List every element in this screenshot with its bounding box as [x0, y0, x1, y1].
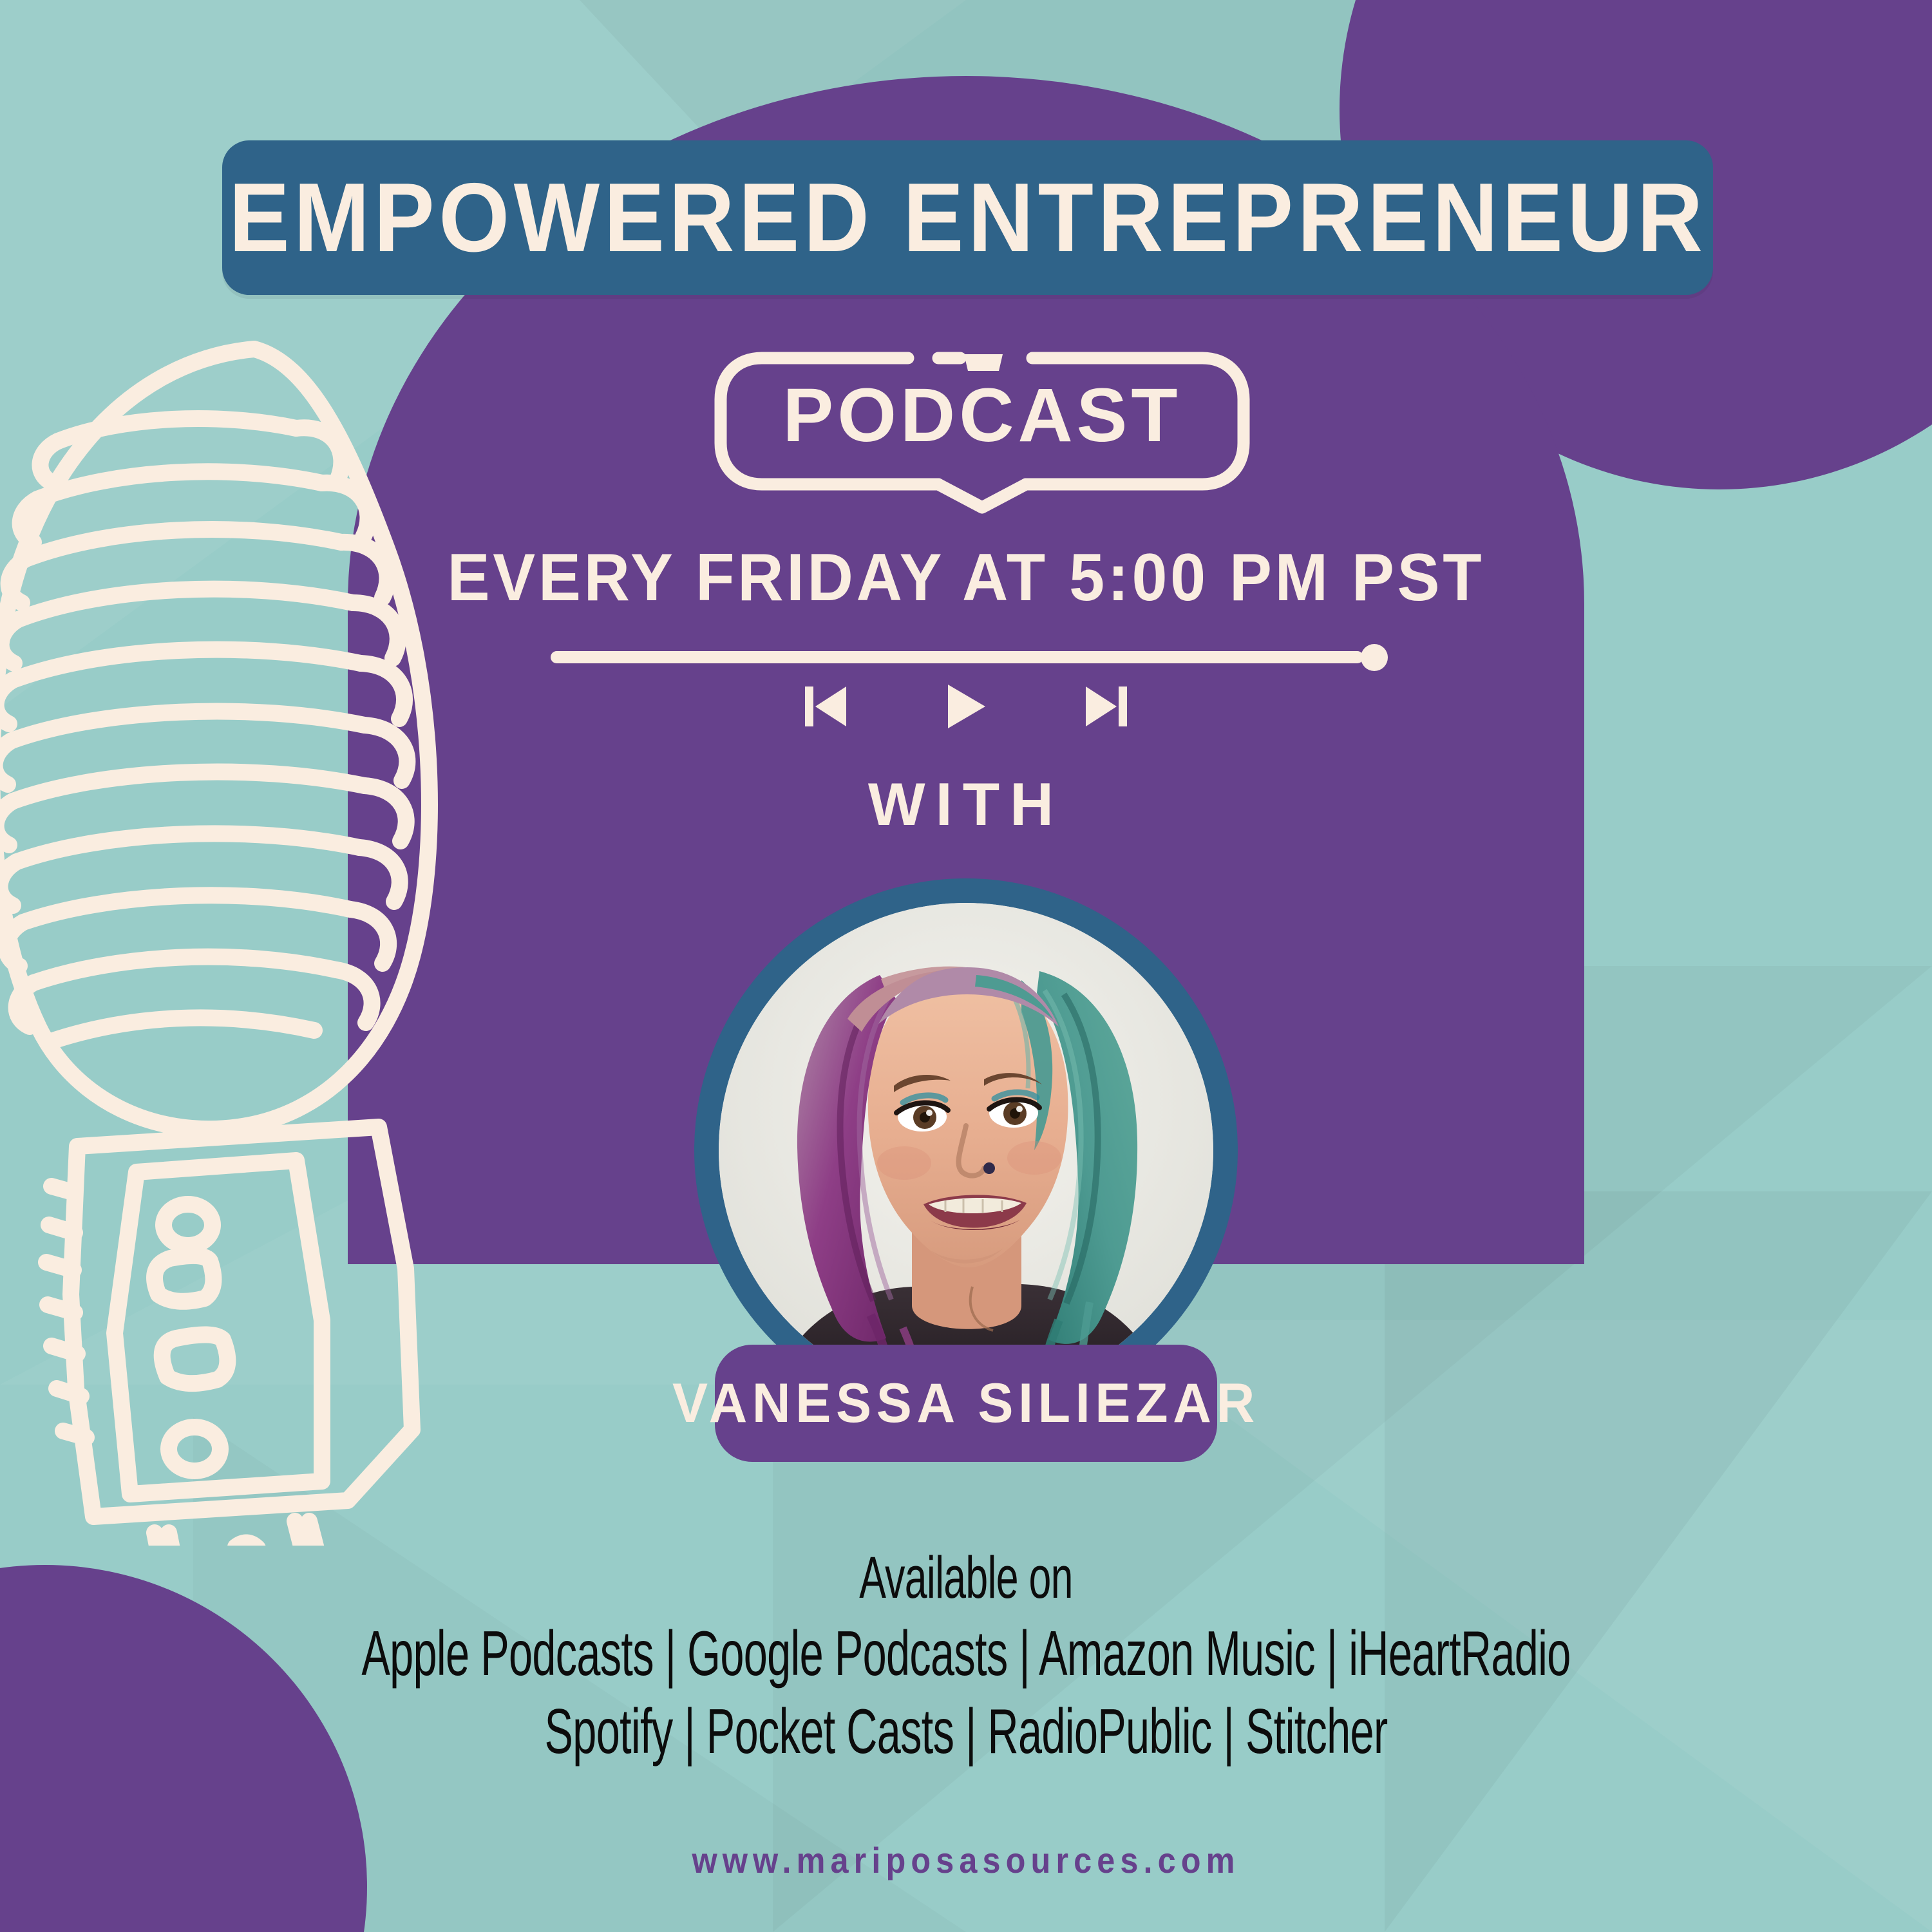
title-banner: EMPOWERED ENTREPRENEUR — [222, 140, 1713, 295]
avatar — [694, 878, 1238, 1422]
schedule-text: EVERY FRIDAY AT 5:00 PM PST — [48, 540, 1884, 616]
podcast-badge-label: PODCAST — [712, 349, 1253, 481]
progress-bar[interactable] — [551, 644, 1388, 670]
play-icon[interactable] — [944, 683, 988, 730]
availability-line-two: Spotify | Pocket Casts | RadioPublic | S… — [309, 1695, 1623, 1768]
availability-block: Available on Apple Podcasts | Google Pod… — [0, 1544, 1932, 1768]
with-label: WITH — [0, 770, 1932, 839]
progress-track — [551, 651, 1363, 663]
player-controls — [0, 683, 1932, 730]
host-name-pill: VANESSA SILIEZAR — [715, 1345, 1217, 1462]
podcast-poster: EMPOWERED ENTREPRENEUR PODCAST EVERY FRI… — [0, 0, 1932, 1932]
page-title: EMPOWERED ENTREPRENEUR — [229, 162, 1707, 274]
podcast-badge: PODCAST — [712, 349, 1253, 516]
availability-heading: Available on — [309, 1544, 1623, 1612]
progress-knob[interactable] — [1361, 644, 1388, 671]
website-url[interactable]: www.mariposasources.com — [97, 1839, 1835, 1881]
skip-previous-icon[interactable] — [804, 683, 848, 730]
retro-microphone-icon — [0, 290, 489, 1546]
portrait-photo — [719, 903, 1213, 1397]
availability-line-one: Apple Podcasts | Google Podcasts | Amazo… — [309, 1617, 1623, 1690]
host-name: VANESSA SILIEZAR — [672, 1372, 1260, 1435]
skip-next-icon[interactable] — [1084, 683, 1128, 730]
